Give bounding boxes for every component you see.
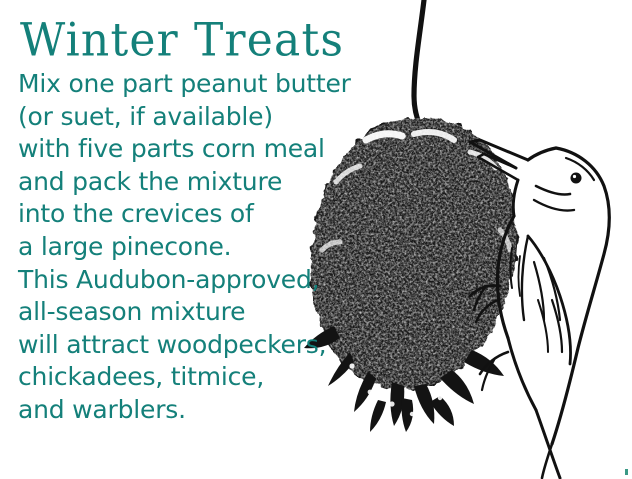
recipe-line: chickadees, titmice, [18,361,388,394]
recipe-line: will attract woodpeckers, [18,329,388,362]
recipe-line: a large pinecone. [18,231,388,264]
winter-treats-poster: Winter Treats Mix one part peanut butter… [0,0,632,479]
hanging-string [414,0,424,130]
recipe-text: Mix one part peanut butter (or suet, if … [18,68,388,427]
recipe-line: This Audubon-approved, [18,264,388,297]
recipe-line: with five parts corn meal [18,133,388,166]
corner-mark [625,469,628,475]
recipe-line: (or suet, if available) [18,101,388,134]
page-title: Winter Treats [20,14,388,68]
recipe-line: into the crevices of [18,198,388,231]
recipe-line: and pack the mixture [18,166,388,199]
text-block: Winter Treats Mix one part peanut butter… [18,14,388,427]
recipe-line: Mix one part peanut butter [18,68,388,101]
recipe-line: and warblers. [18,394,388,427]
recipe-line: all-season mixture [18,296,388,329]
